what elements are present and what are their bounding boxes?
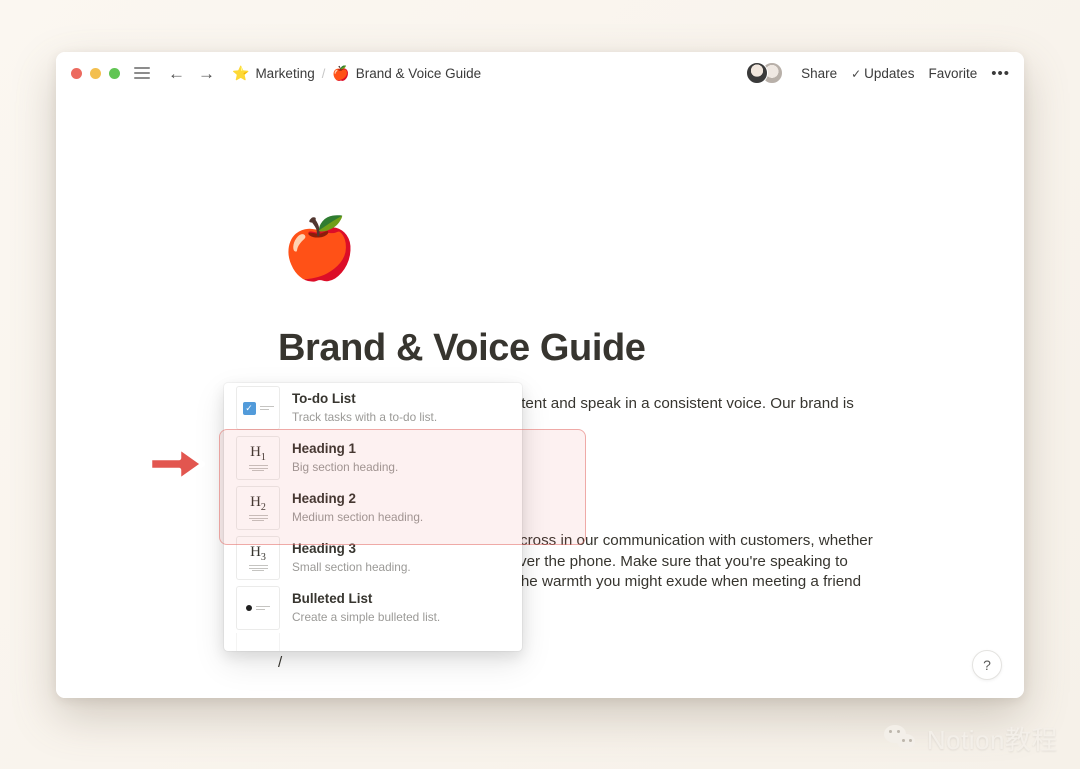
menu-item-description: Big section heading. [292, 459, 398, 475]
help-button[interactable]: ? [972, 650, 1002, 680]
title-bar-actions: Share ✓Updates Favorite ••• [746, 52, 1010, 94]
maximize-window-button[interactable] [109, 68, 120, 79]
share-button[interactable]: Share [801, 66, 837, 81]
menu-item-heading-1[interactable]: H1 Heading 1 Big section heading. [224, 433, 522, 483]
minimize-window-button[interactable] [90, 68, 101, 79]
breadcrumb: ⭐ Marketing / 🍎 Brand & Voice Guide [232, 66, 481, 81]
page-content: 🍎 Brand & Voice Guide We want to ensure … [56, 94, 1024, 698]
app-window: ← → ⭐ Marketing / 🍎 Brand & Voice Guide … [56, 52, 1024, 698]
menu-item-description: Create a simple bulleted list. [292, 609, 440, 625]
avatar [746, 62, 768, 84]
menu-item-todo-list[interactable]: ✓ To-do List Track tasks with a to-do li… [224, 383, 522, 433]
back-arrow-icon[interactable]: ← [168, 65, 185, 82]
star-icon: ⭐ [232, 66, 249, 80]
wechat-watermark: Notion教程 [884, 720, 1058, 757]
collaborator-avatars[interactable] [746, 62, 784, 84]
traffic-light-controls [71, 67, 150, 79]
more-options-icon[interactable]: ••• [991, 65, 1010, 82]
breadcrumb-parent[interactable]: Marketing [255, 66, 314, 81]
slash-command-menu: ✓ To-do List Track tasks with a to-do li… [224, 383, 522, 651]
page-icon-apple[interactable]: 🍎 [282, 219, 357, 279]
slash-command-text[interactable]: / [278, 654, 282, 671]
heading-1-glyph: H1 [250, 445, 266, 463]
menu-item-description: Small section heading. [292, 559, 411, 575]
menu-item-bulleted-list[interactable]: Bulleted List Create a simple bulleted l… [224, 583, 522, 633]
navigation-arrows: ← → [168, 65, 215, 82]
heading-1-icon: H1 [236, 436, 280, 480]
breadcrumb-separator: / [322, 66, 326, 81]
menu-item-title: Bulleted List [292, 591, 440, 607]
breadcrumb-current[interactable]: Brand & Voice Guide [356, 66, 481, 81]
heading-2-glyph: H2 [250, 495, 266, 513]
heading-2-icon: H2 [236, 486, 280, 530]
sidebar-toggle-icon[interactable] [134, 67, 150, 79]
menu-item-title: Heading 2 [292, 491, 423, 507]
menu-item-heading-3[interactable]: H3 Heading 3 Small section heading. [224, 533, 522, 583]
page-title[interactable]: Brand & Voice Guide [278, 327, 646, 370]
menu-item-description: Medium section heading. [292, 509, 423, 525]
menu-item-title: Heading 3 [292, 541, 411, 557]
apple-icon: 🍎 [332, 66, 349, 80]
favorite-button[interactable]: Favorite [928, 66, 977, 81]
menu-item-title: To-do List [292, 391, 437, 407]
updates-label: Updates [864, 66, 914, 81]
check-icon: ✓ [851, 67, 861, 81]
todo-icon: ✓ [236, 386, 280, 430]
bulleted-list-icon [236, 586, 280, 630]
updates-button[interactable]: ✓Updates [851, 66, 914, 81]
menu-item-description: Track tasks with a to-do list. [292, 409, 437, 425]
heading-3-glyph: H3 [250, 545, 266, 563]
forward-arrow-icon[interactable]: → [198, 65, 215, 82]
menu-item-partially-hidden[interactable] [224, 633, 522, 651]
red-arrow-annotation [146, 440, 208, 488]
close-window-button[interactable] [71, 68, 82, 79]
list-icon [236, 633, 280, 651]
wechat-icon [884, 725, 918, 753]
title-bar: ← → ⭐ Marketing / 🍎 Brand & Voice Guide … [56, 52, 1024, 94]
menu-item-heading-2[interactable]: H2 Heading 2 Medium section heading. [224, 483, 522, 533]
heading-3-icon: H3 [236, 536, 280, 580]
watermark-text: Notion教程 [927, 720, 1058, 757]
menu-item-title: Heading 1 [292, 441, 398, 457]
